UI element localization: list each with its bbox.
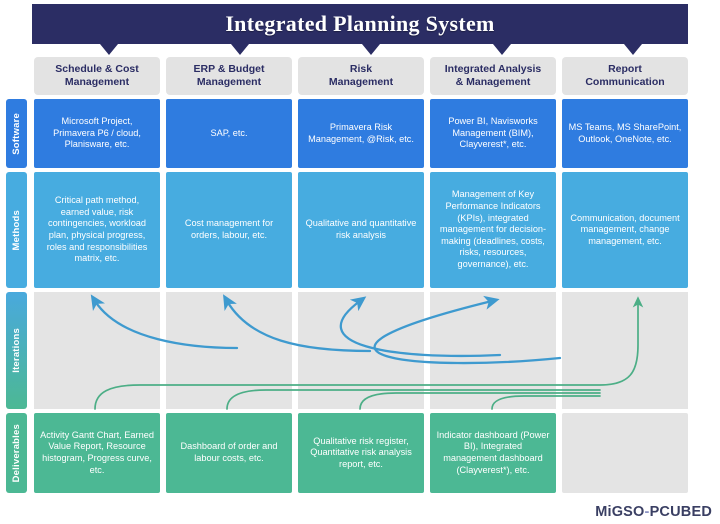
cell-text: Indicator dashboard (Power BI), Integrat… [436,430,550,476]
cell-deliverables-erp-budget[interactable]: Dashboard of order and labour costs, etc… [166,413,292,493]
logo-primary-text: MiGSO [595,504,644,520]
logo-secondary-text: PCUBED [650,504,712,520]
cell-text: Activity Gantt Chart, Earned Value Repor… [40,430,154,476]
cell-deliverables-report [562,413,688,493]
migso-pcubed-logo: MiGSO-PCUBED [595,504,712,520]
cell-deliverables-schedule-cost[interactable]: Activity Gantt Chart, Earned Value Repor… [34,413,160,493]
cell-deliverables-integrated-analysis[interactable]: Indicator dashboard (Power BI), Integrat… [430,413,556,493]
cell-text: Qualitative risk register, Quantitative … [304,436,418,471]
cell-text: Dashboard of order and labour costs, etc… [172,441,286,464]
cell-deliverables-risk[interactable]: Qualitative risk register, Quantitative … [298,413,424,493]
